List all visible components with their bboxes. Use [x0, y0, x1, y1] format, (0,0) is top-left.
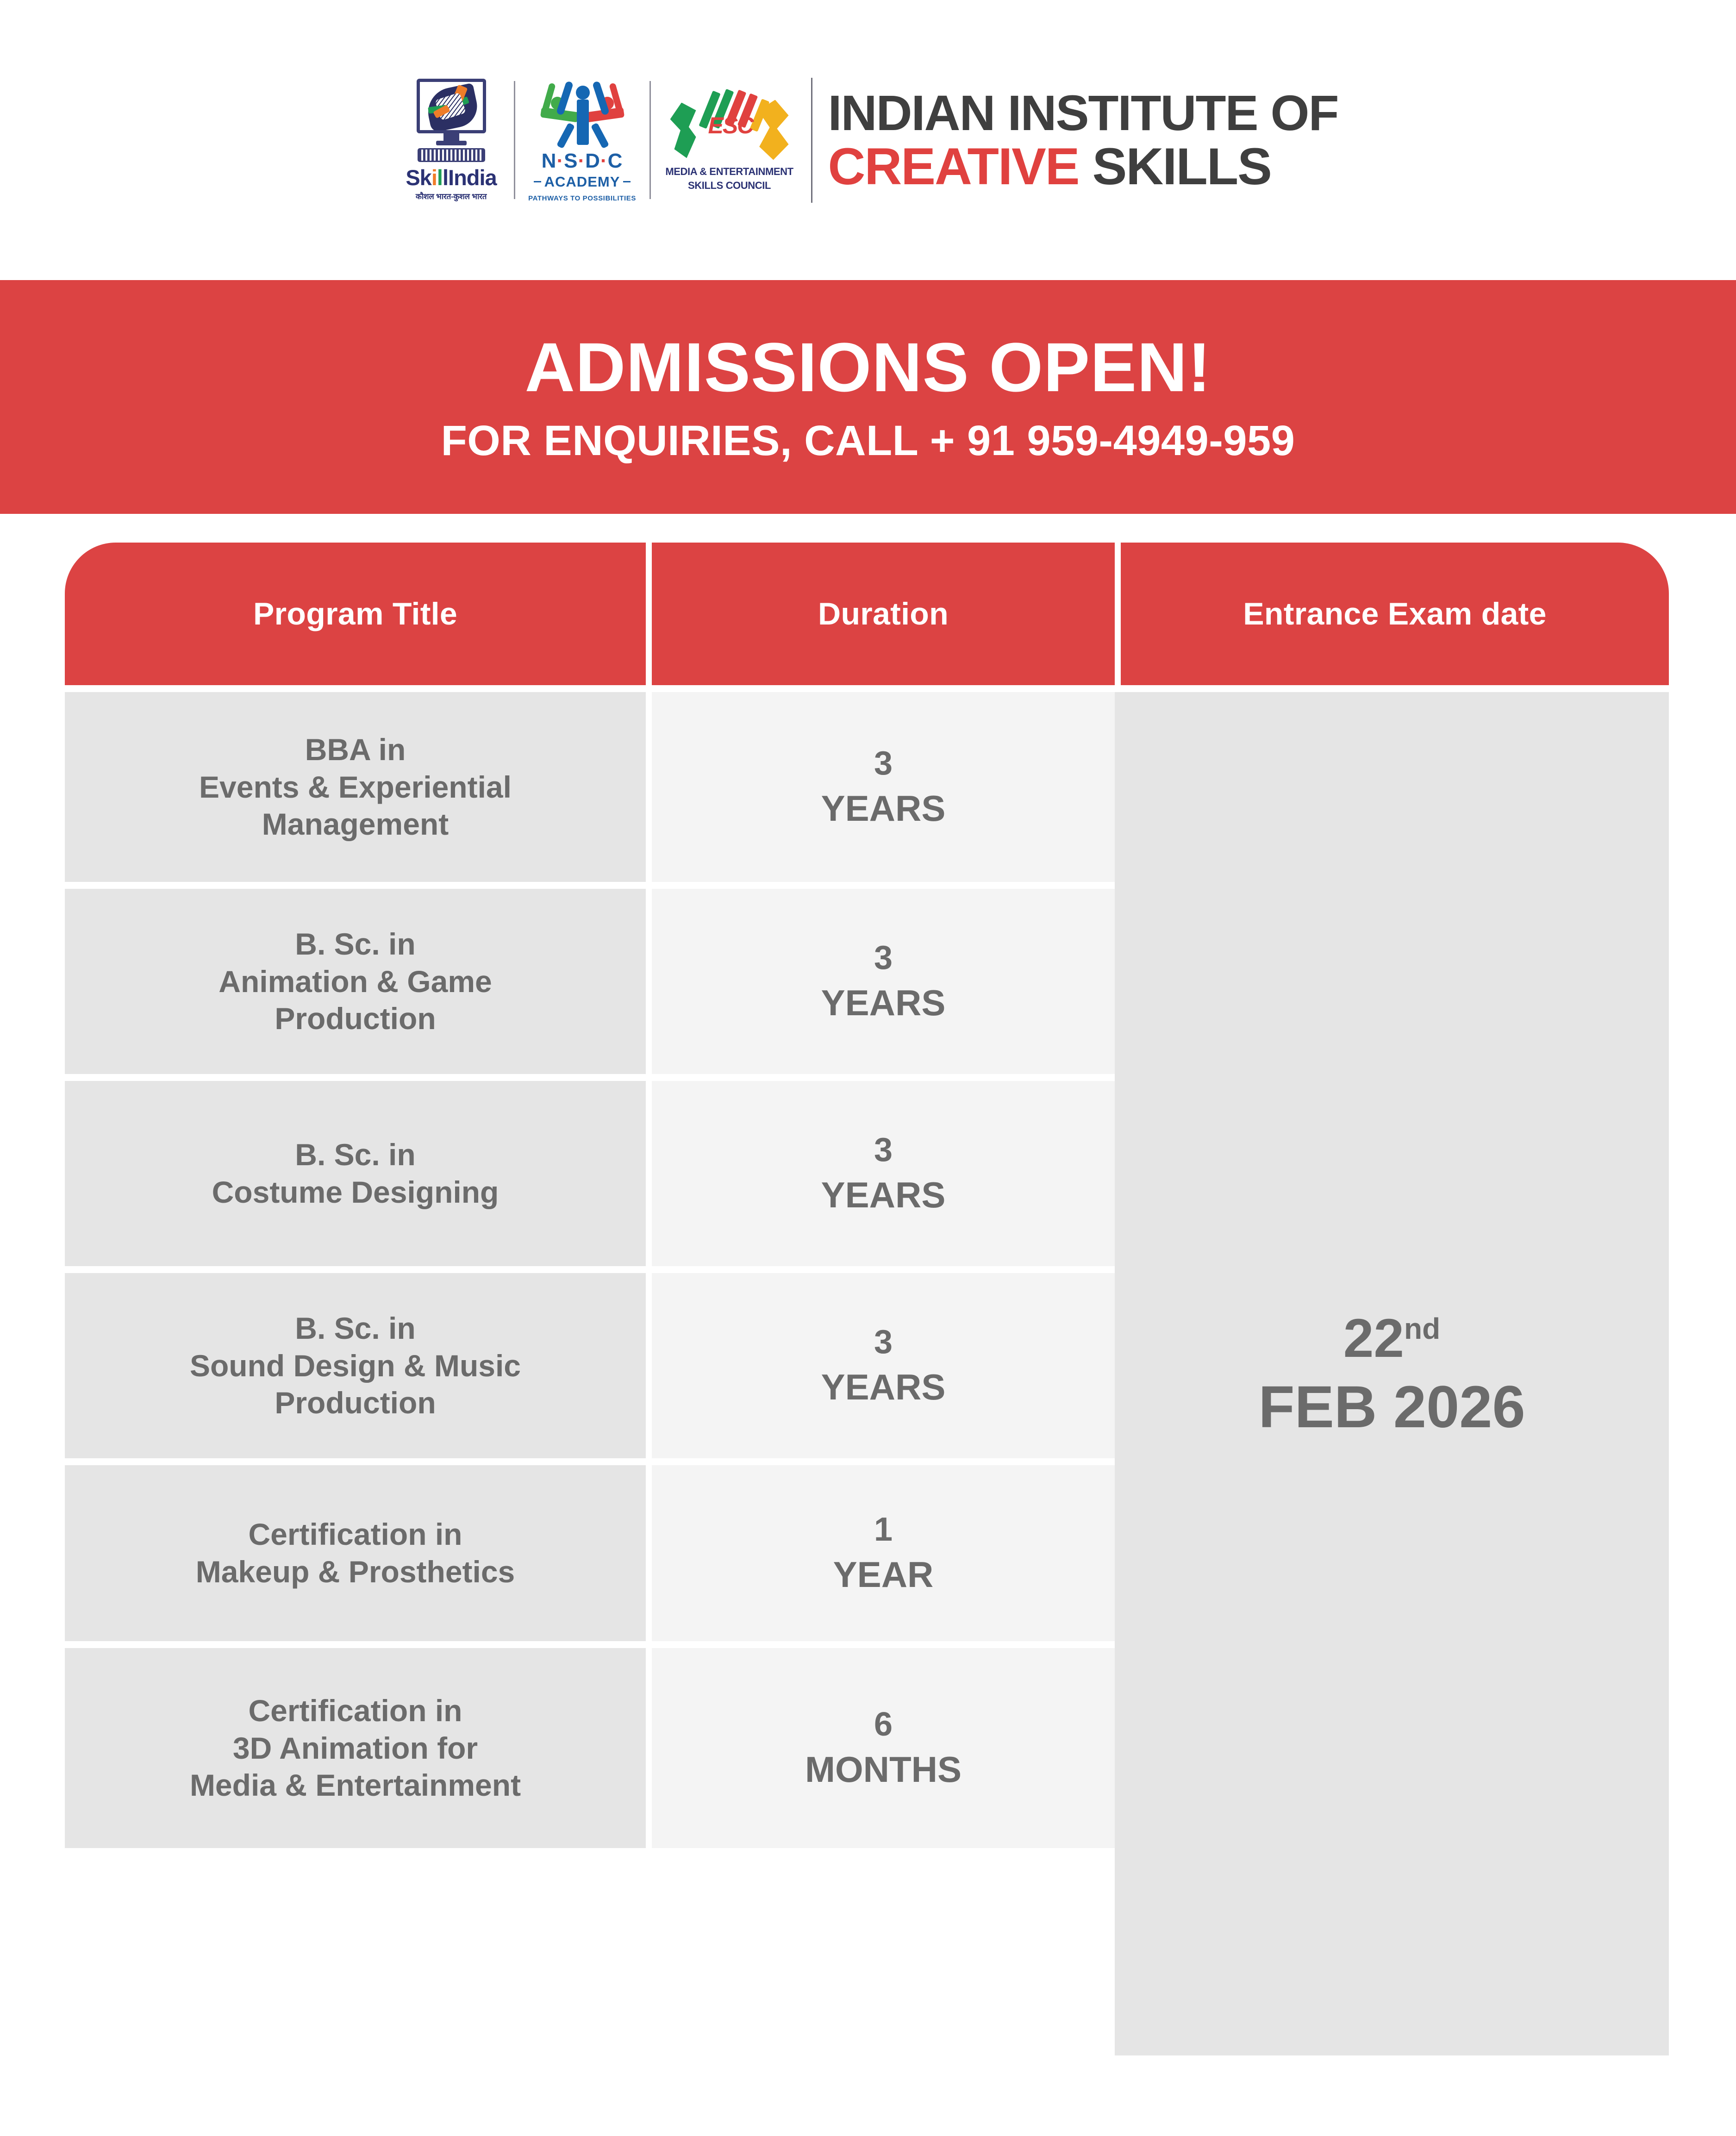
skill-india-tagline: कौशल भारत-कुशल भारत	[416, 191, 487, 201]
skill-india-india: India	[448, 167, 497, 188]
program-title-line: Animation & Game	[219, 963, 492, 1000]
program-title-line: Production	[275, 1000, 436, 1037]
duration-number: 3	[874, 1129, 893, 1172]
program-title-line: Costume Designing	[212, 1174, 499, 1211]
exam-date-ordinal-suffix: nd	[1404, 1314, 1440, 1343]
nsdc-dot-3: ·	[600, 150, 608, 172]
program-title-cell: Certification in Makeup & Prosthetics	[65, 1465, 646, 1641]
duration-unit: YEARS	[821, 1172, 946, 1218]
entrance-exam-date-cell: 22nd FEB 2026	[1115, 692, 1669, 2055]
program-title-line: B. Sc. in	[295, 925, 415, 963]
nsdc-n: N	[542, 150, 557, 172]
skill-india-sk: Sk	[406, 167, 431, 188]
skill-india-monitor-icon	[417, 79, 486, 133]
banner-subtitle: FOR ENQUIRIES, CALL + 91 959-4949-959	[441, 419, 1295, 462]
mesc-line-2: SKILLS COUNCIL	[688, 180, 771, 192]
mesc-logo: ESC MEDIA & ENTERTAINMENT SKILLS COUNCIL	[660, 64, 799, 217]
program-title-cell: B. Sc. in Animation & Game Production	[65, 889, 646, 1074]
program-title-line: Management	[262, 806, 449, 843]
exam-date-day-number: 22	[1343, 1311, 1404, 1366]
nsdc-people-icon	[536, 78, 629, 148]
program-title-line: B. Sc. in	[295, 1310, 415, 1347]
monitor-stand	[443, 133, 459, 141]
admissions-banner: ADMISSIONS OPEN! FOR ENQUIRIES, CALL + 9…	[0, 280, 1736, 514]
nsdc-s: S	[564, 150, 578, 172]
table-header-row: Program Title Duration Entrance Exam dat…	[65, 543, 1669, 685]
nsdc-academy-label: ACADEMY	[534, 174, 631, 190]
column-header-duration: Duration	[652, 543, 1115, 685]
logo-divider-3	[811, 78, 812, 203]
program-title-cell: B. Sc. in Sound Design & Music Productio…	[65, 1273, 646, 1458]
exam-date-month-year: FEB 2026	[1258, 1378, 1525, 1437]
program-title-line: Sound Design & Music	[190, 1347, 521, 1385]
header-logo-bar: Skill India कौशल भारत-कुशल भारत	[0, 0, 1736, 280]
column-header-program-title: Program Title	[65, 543, 646, 685]
program-title-line: 3D Animation for	[233, 1730, 478, 1767]
duration-number: 3	[874, 1321, 893, 1364]
program-title-line: Production	[275, 1384, 436, 1422]
program-duration-cell: 3 YEARS	[652, 1273, 1115, 1458]
program-duration-cell: 6 MONTHS	[652, 1648, 1115, 1848]
duration-number: 3	[874, 937, 893, 980]
institute-title-skills: SKILLS	[1093, 137, 1271, 195]
duration-unit: MONTHS	[805, 1746, 962, 1793]
duration-unit: YEARS	[821, 1364, 946, 1411]
exam-date-day: 22nd	[1343, 1311, 1440, 1366]
skill-india-l2: l	[443, 167, 448, 188]
program-duration-cell: 3 YEARS	[652, 1081, 1115, 1266]
institute-title-line-1: INDIAN INSTITUTE OF	[828, 88, 1338, 137]
duration-number: 1	[874, 1508, 893, 1552]
program-duration-cell: 1 YEAR	[652, 1465, 1115, 1641]
logo-strip: Skill India कौशल भारत-कुशल भारत	[398, 64, 1338, 217]
duration-number: 6	[874, 1703, 893, 1747]
program-title-line: BBA in	[305, 731, 406, 768]
keyboard-icon	[418, 148, 485, 162]
institute-title-line-2: CREATIVE SKILLS	[828, 141, 1338, 192]
nsdc-dot-1: ·	[556, 150, 564, 172]
program-title-line: Certification in	[248, 1516, 462, 1553]
monitor-base	[436, 141, 467, 145]
nsdc-c: C	[608, 150, 623, 172]
nsdc-academy-logo: N·S·D·C ACADEMY PATHWAYS TO POSSIBILITIE…	[525, 64, 640, 217]
program-title-line: Makeup & Prosthetics	[196, 1553, 515, 1591]
column-header-entrance-exam-date: Entrance Exam date	[1121, 543, 1669, 685]
program-duration-cell: 3 YEARS	[652, 692, 1115, 882]
skill-india-logo: Skill India कौशल भारत-कुशल भारत	[398, 64, 505, 217]
institute-title-creative: CREATIVE	[828, 137, 1079, 195]
nsdc-academy-text: ACADEMY	[544, 174, 620, 190]
program-title-cell: Certification in 3D Animation for Media …	[65, 1648, 646, 1848]
program-duration-cell: 3 YEARS	[652, 889, 1115, 1074]
mesc-line-1: MEDIA & ENTERTAINMENT	[665, 166, 793, 178]
program-title-cell: BBA in Events & Experiential Management	[65, 692, 646, 882]
banner-title: ADMISSIONS OPEN!	[525, 332, 1211, 402]
program-title-line: Media & Entertainment	[190, 1767, 521, 1804]
nsdc-d: D	[585, 150, 600, 172]
program-title-cell: B. Sc. in Costume Designing	[65, 1081, 646, 1266]
nsdc-dot-2: ·	[578, 150, 585, 172]
skill-india-l1: l	[437, 167, 443, 188]
mesc-esc-text: ESC	[708, 114, 753, 137]
nsdc-wordmark: N·S·D·C	[542, 150, 623, 173]
program-title-line: B. Sc. in	[295, 1136, 415, 1174]
institute-title: INDIAN INSTITUTE OF CREATIVE SKILLS	[828, 88, 1338, 192]
skill-india-i: i	[431, 167, 437, 188]
program-title-line: Events & Experiential	[199, 768, 512, 806]
logo-divider-1	[514, 81, 515, 199]
program-title-line: Certification in	[248, 1692, 462, 1730]
duration-unit: YEARS	[821, 980, 946, 1026]
logo-divider-2	[649, 81, 651, 199]
duration-unit: YEAR	[833, 1551, 934, 1598]
duration-number: 3	[874, 742, 893, 786]
skill-india-wordmark: Skill India	[406, 167, 496, 188]
nsdc-tagline: PATHWAYS TO POSSIBILITIES	[528, 194, 636, 202]
duration-unit: YEARS	[821, 785, 946, 832]
mesc-mark-icon: ESC	[669, 89, 790, 163]
